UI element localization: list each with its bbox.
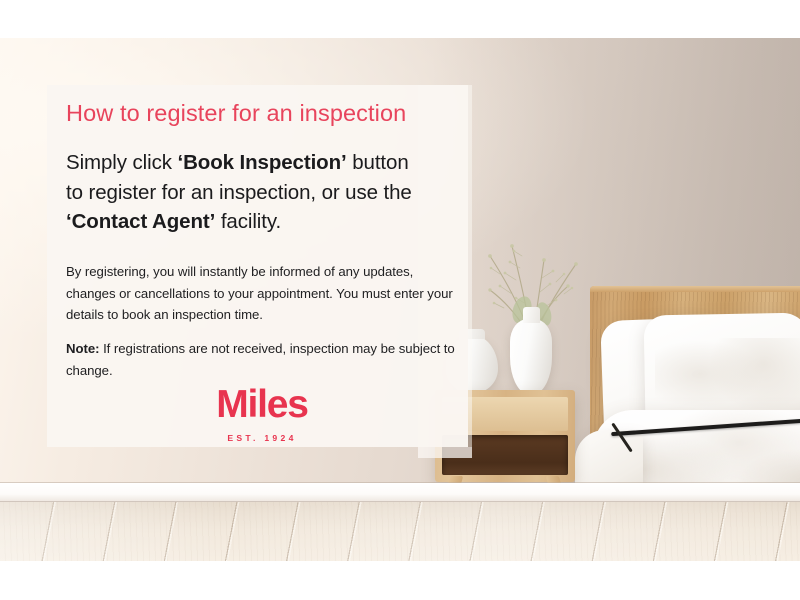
lede-line3-post: facility. [215, 210, 281, 233]
headboard-top-edge [590, 286, 800, 292]
contact-agent-label: ‘Contact Agent’ [66, 210, 215, 233]
lede-line1-pre: Simply click [66, 151, 177, 174]
instructions-body: By registering, you will instantly be in… [66, 261, 458, 381]
logo-wordmark: Miles [66, 385, 458, 424]
note-text: If registrations are not received, inspe… [66, 341, 455, 377]
card-translucent-footer [418, 447, 472, 458]
floor-sheen [0, 502, 800, 561]
note-label: Note: [66, 341, 99, 356]
vase-tall [510, 319, 552, 395]
vase-tall-neck [523, 307, 540, 323]
logo-established: EST. 1924 [66, 434, 458, 443]
lede-line2: to register for an inspection, or use th… [66, 181, 412, 204]
poster-canvas: How to register for an inspection Simply… [0, 0, 800, 600]
body-paragraph-2: Note: If registrations are not received,… [66, 338, 458, 381]
letterbox-bottom [0, 561, 800, 600]
page-title: How to register for an inspection [66, 99, 458, 127]
book-inspection-label: ‘Book Inspection’ [177, 151, 346, 174]
wood-floor [0, 502, 800, 561]
miles-logo: Miles EST. 1924 [66, 385, 458, 443]
skirting-board [0, 483, 800, 503]
instructions-lede: Simply click ‘Book Inspection’ button to… [66, 148, 458, 236]
info-card-content: How to register for an inspection Simply… [66, 99, 458, 381]
letterbox-top [0, 0, 800, 38]
info-card: How to register for an inspection Simply… [47, 85, 468, 447]
lede-line1-post: button [347, 151, 409, 174]
body-paragraph-1: By registering, you will instantly be in… [66, 261, 458, 325]
